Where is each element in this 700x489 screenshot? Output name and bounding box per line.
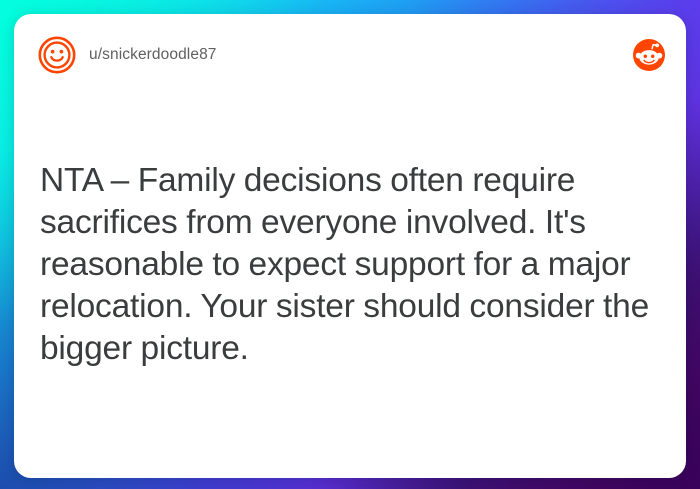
smiley-face-outline-icon (38, 36, 76, 74)
comment-text: NTA – Family decisions often require sac… (40, 160, 660, 370)
author-username: u/snickerdoodle87 (89, 46, 217, 64)
gradient-backdrop: u/snickerdoodle87 NTA – Family decisions (0, 0, 700, 489)
reddit-snoo-icon[interactable] (632, 38, 666, 72)
card-header: u/snickerdoodle87 (14, 14, 686, 96)
comment-card: u/snickerdoodle87 NTA – Family decisions (14, 14, 686, 478)
